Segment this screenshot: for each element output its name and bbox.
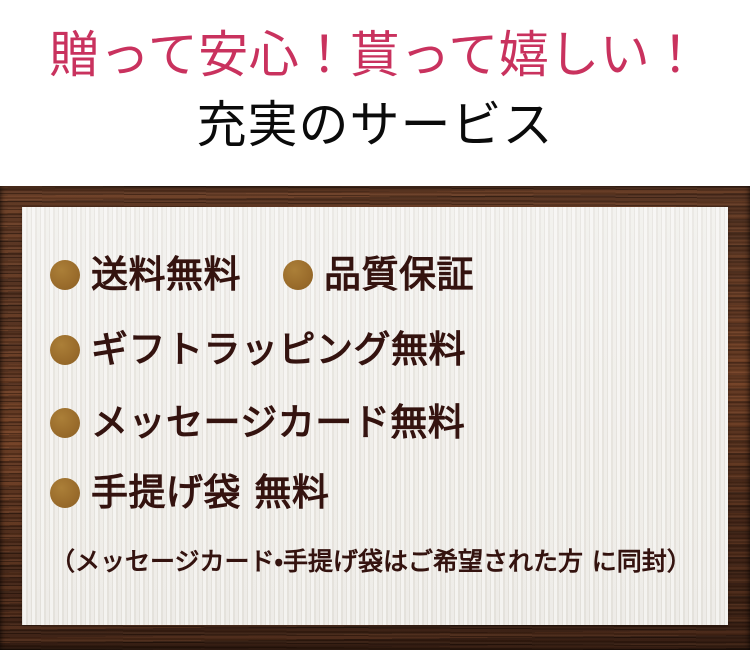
service-item-quality: 品質保証 [283,255,474,295]
promo-banner: 贈って安心！貰って嬉しい！ 充実のサービス 送料無料 品質保証 ギフトラッピング… [0,0,750,650]
headline-primary: 贈って安心！貰って嬉しい！ [0,26,750,84]
service-item-label: メッセージカード無料 [91,403,465,443]
bullet-dot-icon [50,260,80,290]
list-item: 送料無料 品質保証 [50,255,750,295]
bullet-dot-icon [50,335,80,365]
service-item-label: 送料無料 [91,255,241,295]
list-item: 手提げ袋 無料 [50,473,750,513]
service-item-message-card: メッセージカード無料 [50,403,465,443]
service-item-label: 手提げ袋 無料 [91,473,329,513]
service-item-gift-wrapping: ギフトラッピング無料 [50,330,466,370]
service-item-shipping: 送料無料 [50,255,241,295]
service-item-label: ギフトラッピング無料 [91,330,466,370]
list-item: メッセージカード無料 [50,403,750,443]
bullet-dot-icon [283,260,313,290]
bullet-dot-icon [50,478,80,508]
service-item-label: 品質保証 [324,255,474,295]
service-footnote: （メッセージカード・手提げ袋はご希望された方 に同封） [50,547,710,577]
headline-secondary: 充実のサービス [0,96,750,154]
bullet-dot-icon [50,408,80,438]
service-panel: 送料無料 品質保証 ギフトラッピング無料 メッセージカード無料 [22,207,728,625]
heading-area: 贈って安心！貰って嬉しい！ 充実のサービス [0,0,750,186]
service-item-gift-bag: 手提げ袋 無料 [50,473,329,513]
list-item: ギフトラッピング無料 [50,330,750,370]
